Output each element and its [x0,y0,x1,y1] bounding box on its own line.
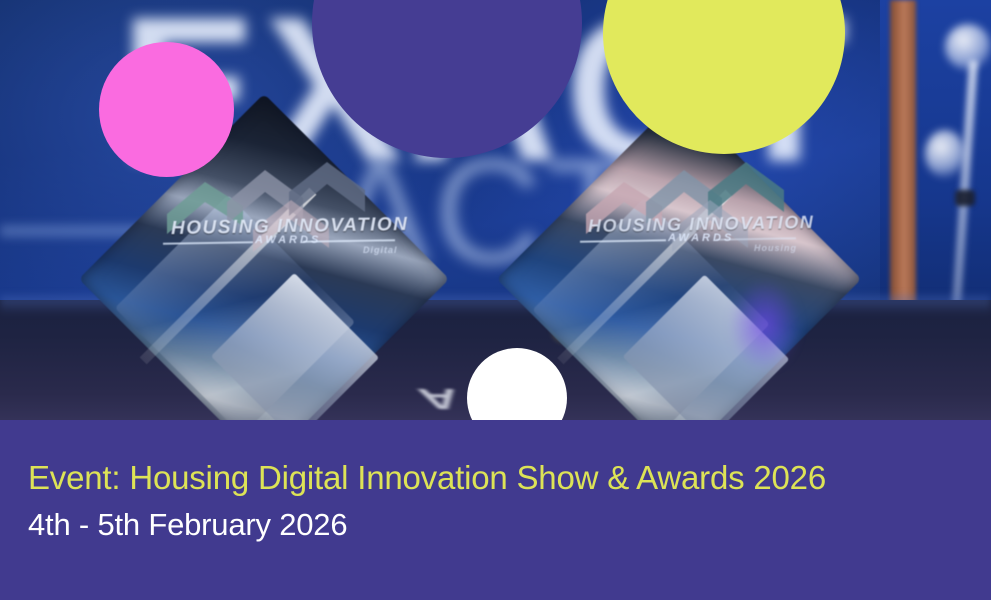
event-banner: EXACT ACT EX A CT HOU [0,0,991,600]
trophy-right-engraved-subtitle: AWARDS [668,232,734,244]
light-stand-knob [955,190,975,206]
trophy-right-engraved-tag: Housing [754,243,797,253]
trophy-right: HOUSING INNOVATION AWARDS Housing [520,130,860,420]
pink-circle [99,42,234,177]
trophy-left-engraved-subtitle: AWARDS [255,234,321,246]
event-date: 4th - 5th February 2026 [28,508,347,542]
event-title: Event: Housing Digital Innovation Show &… [28,460,826,496]
caption-band: Event: Housing Digital Innovation Show &… [0,420,991,600]
trophy-left-engraved-tag: Digital [363,245,398,255]
wooden-pillar [890,0,916,330]
sponsor-roundel-icon [925,130,965,178]
